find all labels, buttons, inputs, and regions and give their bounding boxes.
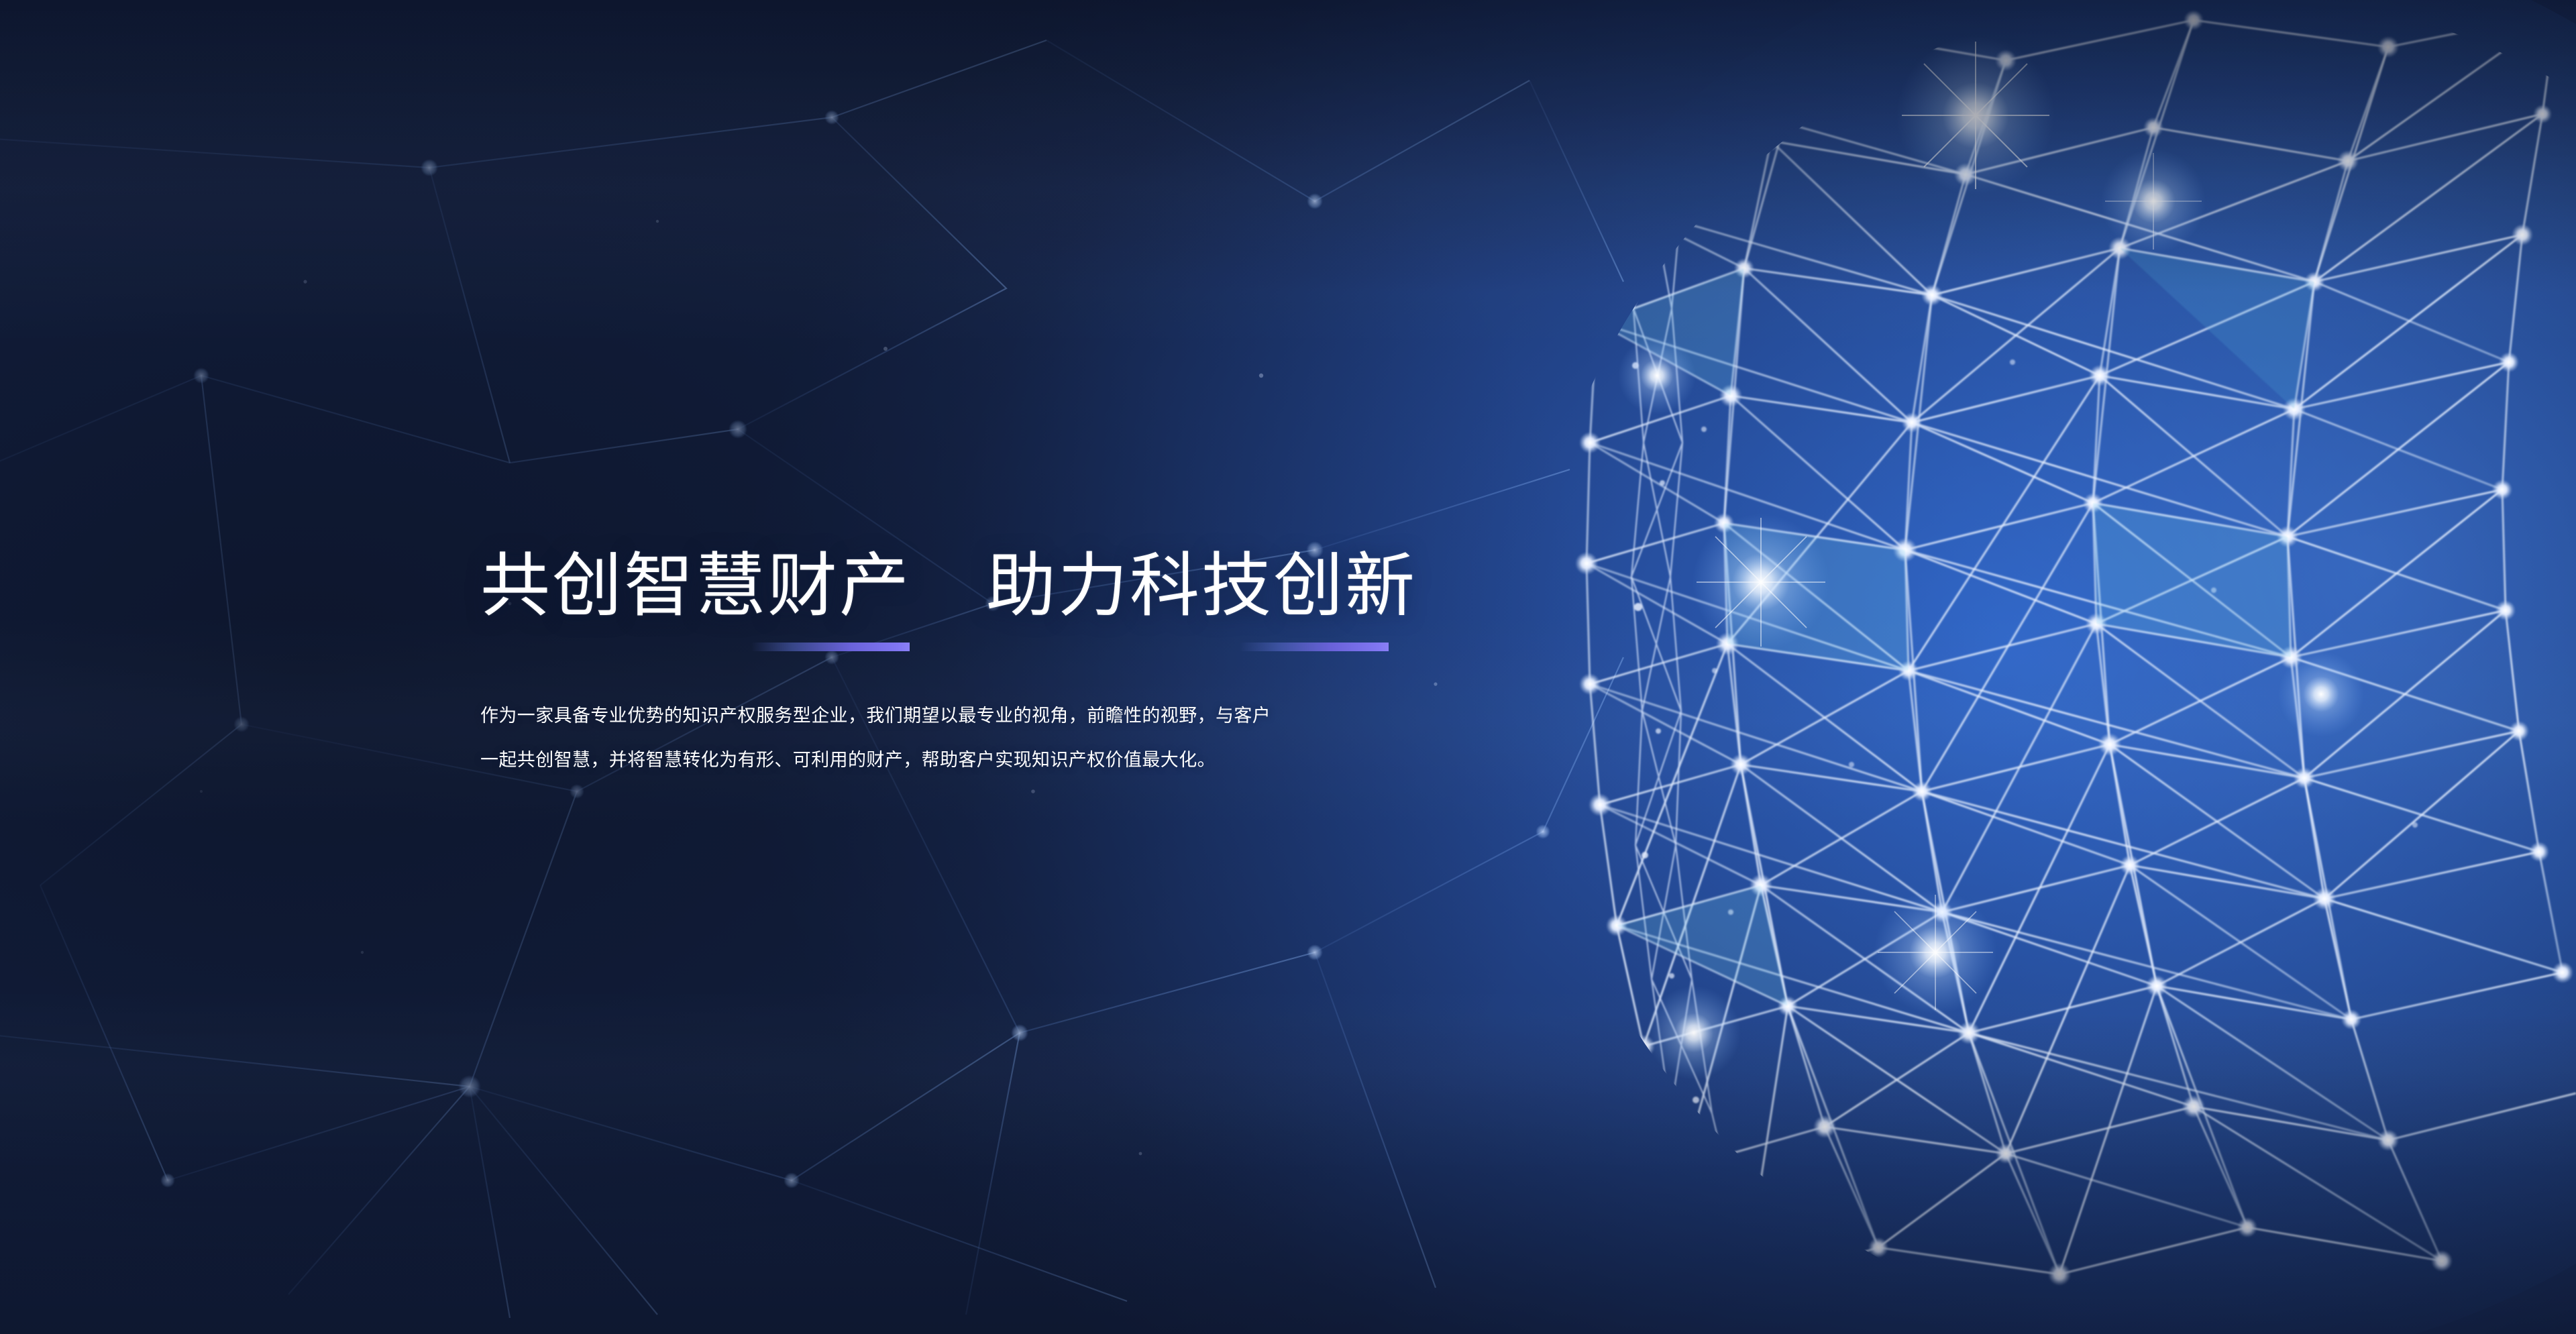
page-title: 共创智慧财产助力科技创新 xyxy=(480,549,1460,624)
headline-phrase-1: 共创智慧财产 xyxy=(480,549,911,624)
headline-underline-row xyxy=(480,636,1460,659)
headline-underline-2 xyxy=(1240,643,1389,651)
hero-banner: 共创智慧财产助力科技创新 作为一家具备专业优势的知识产权服务型企业，我们期望以最… xyxy=(0,0,2576,1334)
headline-phrase-2: 助力科技创新 xyxy=(986,549,1417,624)
headline-underline-1 xyxy=(751,643,910,651)
hero-text-block: 共创智慧财产助力科技创新 作为一家具备专业优势的知识产权服务型企业，我们期望以最… xyxy=(480,549,1460,800)
hero-description: 作为一家具备专业优势的知识产权服务型企业，我们期望以最专业的视角，前瞻性的视野，… xyxy=(480,693,1279,782)
